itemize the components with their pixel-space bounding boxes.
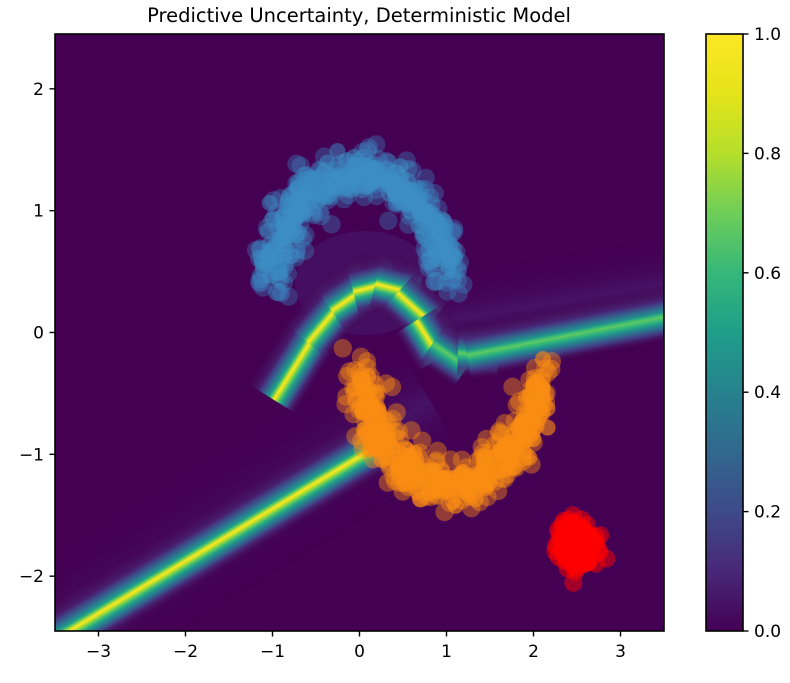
y-tick-label: 1 [33,202,44,222]
scatter-point [255,261,271,277]
scatter-point [334,339,352,357]
colorbar-tick-label: 0.4 [754,383,781,403]
scatter-point [362,433,378,449]
colorbar[interactable]: 0.00.20.40.60.81.0 [706,25,781,642]
scatter-point [535,351,551,367]
colorbar-tick-label: 0.0 [754,622,781,642]
x-tick-label: 1 [441,642,452,662]
scatter-point [412,491,428,507]
page-title: Predictive Uncertainty, Deterministic Mo… [147,4,571,27]
x-axis-ticks: −3−2−10123 [86,631,626,662]
colorbar-tick-label: 0.8 [754,144,781,164]
scatter-point [534,386,550,402]
x-tick-label: 0 [354,642,365,662]
scatter-point [447,481,463,497]
colorbar-tick-label: 1.0 [754,25,781,45]
scatter-point [496,462,512,478]
x-tick-label: 3 [615,642,626,662]
scatter-point [441,451,459,469]
scatter-point [322,215,340,233]
colorbar-gradient [706,34,743,631]
scatter-point [259,223,275,239]
y-axis-ticks: −2−1012 [19,80,55,587]
scatter-point [379,212,397,230]
y-tick-label: 0 [33,324,44,344]
figure-canvas: −3−2−10123 −2−1012 Predictive Uncertaint… [0,0,790,683]
y-tick-label: −2 [19,567,44,587]
scatter-point [383,378,401,396]
x-tick-label: −3 [86,642,111,662]
matplotlib-figure: −3−2−10123 −2−1012 Predictive Uncertaint… [0,0,790,683]
scatter-point [355,395,371,411]
scatter-point [381,186,397,202]
scatter-point [513,414,529,430]
scatter-point [269,283,287,301]
colorbar-ticks: 0.00.20.40.60.81.0 [743,25,781,642]
x-tick-label: −1 [260,642,285,662]
scatter-point [319,155,335,171]
colorbar-tick-label: 0.6 [754,264,781,284]
scatter-point [346,171,362,187]
scatter-point [435,211,451,227]
y-tick-label: 2 [33,80,44,100]
y-tick-label: −1 [19,445,44,465]
colorbar-tick-label: 0.2 [754,503,781,523]
scatter-point [564,531,580,547]
scatter-point [402,456,418,472]
scatter-point [448,498,464,514]
scatter-point [282,206,298,222]
scatter-point [262,195,278,211]
x-tick-label: −2 [173,642,198,662]
x-tick-label: 2 [528,642,539,662]
